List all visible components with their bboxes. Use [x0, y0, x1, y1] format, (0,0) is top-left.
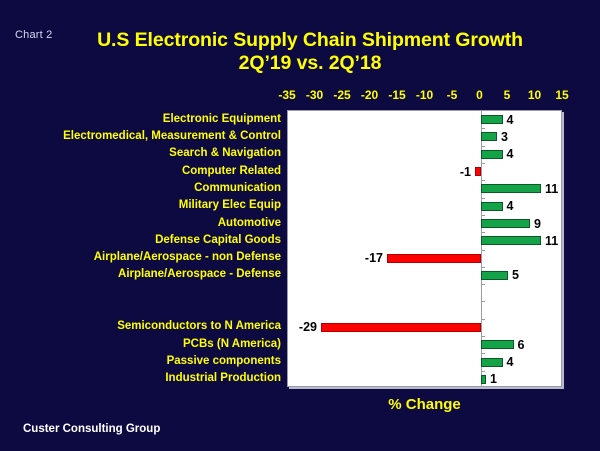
plot-area: 434-1114911-175-29641: [287, 110, 562, 387]
bar-value-label: 11: [545, 183, 558, 195]
bar: [481, 236, 542, 245]
category-label: Automotive: [218, 217, 281, 229]
category-label: Industrial Production: [165, 372, 281, 384]
bar-value-label: -17: [365, 252, 383, 264]
bar-value-label: 11: [545, 235, 558, 247]
bar: [481, 184, 542, 193]
category-tickmark: [481, 267, 485, 268]
slide-canvas: Chart 2 U.S Electronic Supply Chain Ship…: [0, 0, 600, 451]
bar-value-label: 4: [507, 114, 514, 126]
bar: [475, 167, 481, 176]
bar: [481, 150, 503, 159]
category-label: Communication: [194, 182, 281, 194]
x-tick-label: -25: [333, 88, 350, 102]
bar: [481, 340, 514, 349]
bar-value-label: -1: [460, 166, 471, 178]
category-label: Semiconductors to N America: [117, 320, 281, 332]
category-tickmark: [481, 128, 485, 129]
bar: [481, 219, 531, 228]
category-tickmark: [481, 301, 485, 302]
category-tickmark: [481, 284, 485, 285]
category-label: Military Elec Equip: [179, 199, 281, 211]
title-line-2: 2Q’19 vs. 2Q’18: [60, 52, 560, 75]
category-label: Airplane/Aerospace - non Defense: [94, 251, 281, 263]
category-tickmark: [481, 180, 485, 181]
x-tick-label: -35: [278, 88, 295, 102]
x-tick-label: -15: [388, 88, 405, 102]
x-axis-title: % Change: [287, 396, 562, 413]
bar: [321, 323, 481, 332]
bar-value-label: 6: [518, 339, 525, 351]
category-label: Airplane/Aerospace - Defense: [118, 268, 281, 280]
bar-value-label: 4: [507, 200, 514, 212]
category-label: Passive components: [167, 355, 281, 367]
category-tickmark: [481, 146, 485, 147]
title-line-1: U.S Electronic Supply Chain Shipment Gro…: [97, 29, 523, 51]
category-axis-labels: Electronic EquipmentElectromedical, Meas…: [0, 110, 281, 387]
category-tickmark: [481, 319, 485, 320]
bar-value-label: 1: [490, 373, 497, 385]
x-tick-label: -5: [447, 88, 458, 102]
x-tick-label: 15: [555, 88, 568, 102]
category-label: Defense Capital Goods: [155, 234, 281, 246]
footer-attribution: Custer Consulting Group: [23, 423, 160, 435]
chart-number-tag: Chart 2: [15, 29, 52, 41]
bar: [481, 115, 503, 124]
x-tick-label: 5: [504, 88, 511, 102]
x-tick-label: 10: [528, 88, 541, 102]
category-tickmark: [481, 371, 485, 372]
category-tickmark: [481, 232, 485, 233]
bar-value-label: 4: [507, 148, 514, 160]
category-label: Search & Navigation: [169, 147, 281, 159]
category-label: Computer Related: [182, 165, 281, 177]
bar-value-label: 4: [507, 356, 514, 368]
category-tickmark: [481, 353, 485, 354]
category-tickmark: [481, 215, 485, 216]
bar: [481, 375, 487, 384]
x-tick-label: -10: [416, 88, 433, 102]
bar-value-label: 9: [534, 218, 541, 230]
category-tickmark: [481, 163, 485, 164]
x-tick-label: 0: [476, 88, 483, 102]
category-tickmark: [481, 198, 485, 199]
bar-value-label: 3: [501, 131, 508, 143]
category-label: PCBs (N America): [183, 338, 281, 350]
bar: [481, 132, 498, 141]
x-tick-label: -30: [306, 88, 323, 102]
bar: [481, 202, 503, 211]
page-title: U.S Electronic Supply Chain Shipment Gro…: [60, 29, 560, 75]
bar-value-label: -29: [299, 321, 317, 333]
bar: [481, 271, 509, 280]
category-label: Electronic Equipment: [163, 113, 281, 125]
x-axis-tick-labels: -35-30-25-20-15-10-5051015: [287, 88, 563, 106]
category-label: Electromedical, Measurement & Control: [63, 130, 281, 142]
bar: [387, 254, 481, 263]
bar: [481, 358, 503, 367]
bar-value-label: 5: [512, 269, 519, 281]
category-tickmark: [481, 336, 485, 337]
x-tick-label: -20: [361, 88, 378, 102]
category-tickmark: [481, 250, 485, 251]
